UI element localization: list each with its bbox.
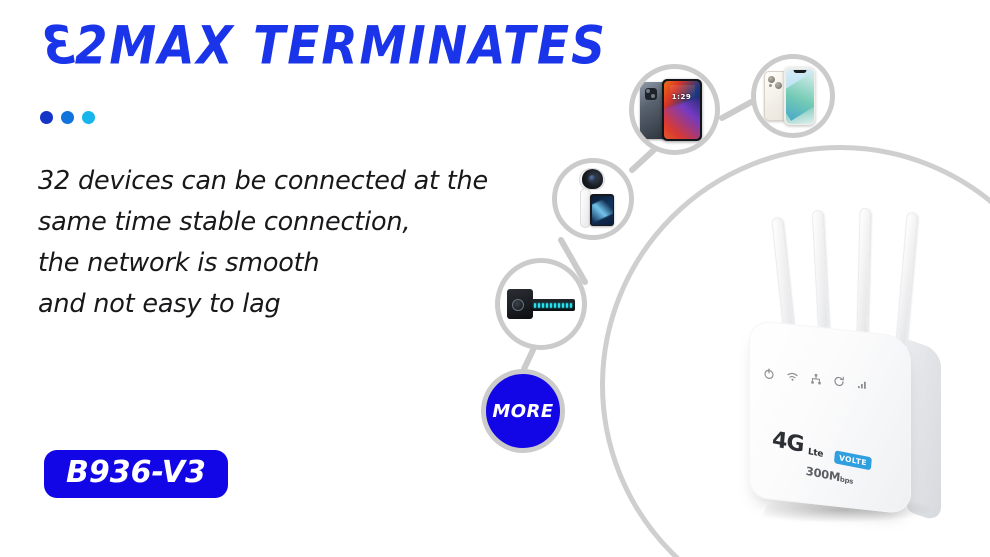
foldable-phone-screen	[592, 196, 613, 225]
foldable-phone	[590, 194, 614, 226]
more-button[interactable]: MORE	[481, 369, 565, 453]
camera-bubble[interactable]	[552, 158, 634, 240]
description-line-4: and not easy to lag	[38, 284, 538, 325]
phone-front	[784, 67, 815, 125]
description-line-2: same time stable connection,	[38, 202, 538, 243]
switch-led	[542, 303, 544, 308]
router-volte-badge: VOLTE	[834, 450, 873, 471]
title-lead-char: 3	[40, 20, 75, 73]
description-line-3: the network is smooth	[38, 243, 538, 284]
wifi-icon	[786, 370, 799, 383]
switch-led	[554, 303, 556, 308]
tablet-screen: 1:29	[664, 81, 700, 139]
switch-bubble[interactable]	[495, 258, 587, 350]
tablet-camera-module	[645, 88, 657, 100]
model-badge-label: B936-V3	[66, 455, 206, 490]
camera-and-foldable-image	[569, 168, 617, 230]
switch-led	[538, 303, 540, 308]
switch-led	[534, 303, 536, 308]
signal-bars-icon	[856, 377, 871, 391]
switch-led	[546, 303, 548, 308]
phone-camera-lens-2	[775, 82, 782, 89]
network-switch-image	[507, 289, 575, 319]
router-4g-label: 4G	[771, 429, 804, 457]
description-line-1: 32 devices can be connected at the	[38, 161, 538, 202]
dot-1	[40, 111, 53, 124]
switch-port-bar	[531, 299, 575, 311]
camera-lens-icon	[582, 169, 603, 189]
dot-3	[82, 111, 95, 124]
switch-body	[507, 289, 533, 319]
router-side-panel	[907, 339, 941, 523]
promo-banner: 32MAX TERMINATES 32 devices can be conne…	[0, 0, 990, 557]
phone-camera-lens-1	[768, 76, 775, 83]
accent-dots	[40, 111, 95, 124]
phone-notch	[793, 70, 806, 74]
description-text: 32 devices can be connected at the same …	[38, 161, 538, 325]
router-product-image: 4G Lte VOLTE 300Mbps	[735, 185, 985, 535]
router-antenna-3	[856, 208, 870, 340]
tablet-pair-image: 1:29	[638, 79, 712, 141]
title-rest: 2MAX TERMINATES	[75, 16, 607, 78]
switch-led	[558, 303, 560, 308]
sync-icon	[833, 375, 845, 388]
phone-flash-icon	[769, 84, 772, 87]
router-speed-unit: bps	[839, 475, 853, 485]
phone-screen	[786, 69, 814, 124]
phone-pair-image	[764, 67, 822, 125]
dot-2	[61, 111, 74, 124]
phone-bubble[interactable]	[751, 54, 835, 138]
switch-led	[566, 303, 568, 308]
power-icon	[763, 367, 775, 380]
lan-icon	[810, 372, 822, 385]
tablet-bubble[interactable]: 1:29	[629, 64, 720, 155]
tablet-front: 1:29	[662, 79, 702, 141]
more-button-label: MORE	[492, 401, 553, 422]
switch-led	[570, 303, 572, 308]
switch-led	[562, 303, 564, 308]
page-title: 32MAX TERMINATES	[40, 20, 607, 73]
switch-dial-icon	[512, 299, 524, 311]
tablet-screen-clock: 1:29	[664, 93, 700, 101]
model-badge: B936-V3	[44, 450, 228, 498]
router-lte-label: Lte	[807, 447, 823, 461]
router-antenna-4	[895, 212, 918, 347]
switch-led	[550, 303, 552, 308]
router-antenna-2	[812, 210, 830, 335]
